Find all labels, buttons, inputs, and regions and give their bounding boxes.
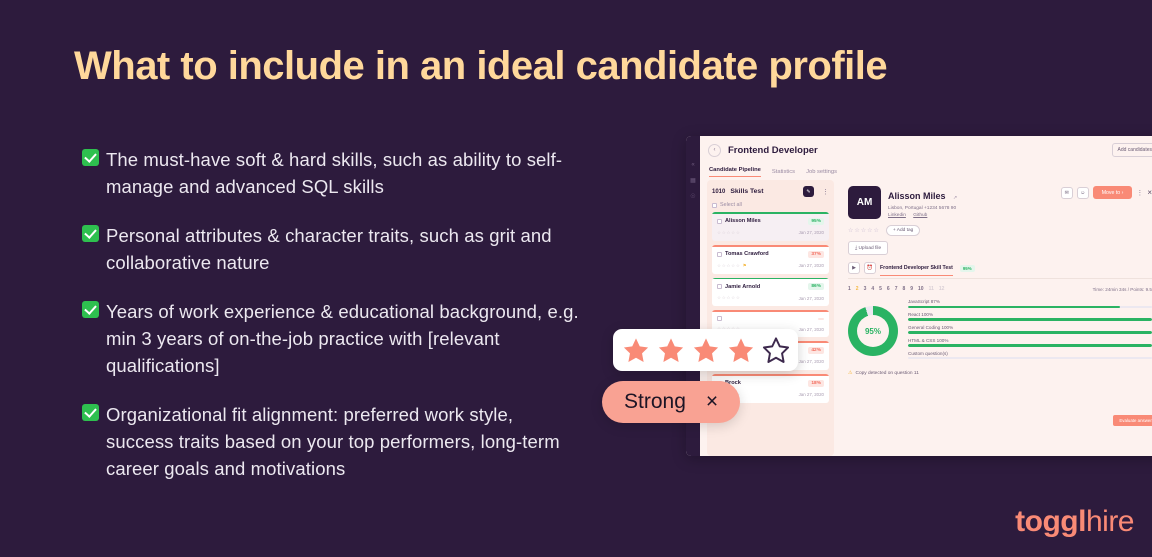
external-link-icon[interactable]: ↗ [953, 195, 957, 201]
question-4[interactable]: 4 [871, 286, 874, 292]
score-value: 95% [865, 327, 881, 336]
star-icon[interactable] [726, 336, 756, 365]
star-rating-icon[interactable]: ☆☆☆☆☆ [717, 295, 741, 301]
list-item-label: Years of work experience & educational b… [106, 298, 582, 379]
check-mark-button-icon [82, 404, 99, 421]
skill-label: HTML & CSS 100% [908, 338, 1152, 343]
question-8[interactable]: 8 [902, 286, 905, 292]
move-to-button[interactable]: Move to › [1093, 186, 1133, 199]
close-icon[interactable]: × [1147, 188, 1152, 197]
score-donut-chart: 95% [848, 306, 898, 356]
checkbox-icon[interactable] [717, 219, 722, 224]
page-title: What to include in an ideal candidate pr… [74, 44, 887, 89]
test-tab-row: ▶ ⏰ Frontend Developer Skill Test 95% [848, 262, 1152, 279]
candidate-row-top [712, 312, 829, 323]
logo-bold: toggl [1015, 505, 1086, 538]
add-tag-button[interactable]: + Add tag [886, 225, 920, 236]
chevrons-left-icon[interactable]: « [690, 162, 697, 169]
candidate-date: Jan 27, 2020 [799, 230, 824, 235]
candidate-row-bottom: ☆☆☆☆☆ ⚑ Jan 27, 2020 [712, 260, 829, 274]
candidate-date: Jan 27, 2020 [799, 359, 824, 364]
select-all-checkbox[interactable]: Select all [712, 202, 829, 208]
check-mark-button-icon [82, 301, 99, 318]
candidate-meta: Lisbon, Portugal +1234 5678 90 [888, 206, 957, 211]
question-11[interactable]: 11 [929, 286, 934, 292]
list-item-label: Organizational fit alignment: preferred … [106, 401, 582, 482]
list-item: Years of work experience & educational b… [82, 298, 582, 379]
app-tabs: Candidate Pipeline Statistics Job settin… [700, 164, 1152, 180]
kebab-icon[interactable]: ⋮ [822, 188, 829, 196]
bullet-list: The must-have soft & hard skills, such a… [82, 146, 582, 504]
link-linkedin[interactable]: Linkedin [888, 213, 906, 218]
back-arrow-icon[interactable]: ‹ [708, 144, 721, 157]
add-candidates-button[interactable]: Add candidates [1112, 143, 1152, 157]
checkbox-icon[interactable] [717, 252, 722, 257]
star-icon[interactable] [621, 336, 651, 365]
copy-detected-label: Copy detected on question 11 [855, 371, 918, 376]
avatar: AM [848, 186, 881, 219]
candidate-name: Alisson Miles [888, 191, 946, 201]
tab-candidate-pipeline[interactable]: Candidate Pipeline [709, 167, 761, 177]
question-3[interactable]: 3 [864, 286, 867, 292]
skill-row: JavaScript 87% [908, 299, 1152, 308]
skill-track [908, 318, 1152, 320]
app-screenshot: « ▦ ☉ ‹ Frontend Developer Add candidate… [686, 136, 1152, 456]
candidate-name: Jamie Arnold [725, 284, 760, 290]
select-all-label: Select all [720, 202, 742, 208]
play-icon[interactable]: ▶ [848, 262, 860, 274]
clock-icon[interactable]: ⏰ [864, 262, 876, 274]
candidate-date: Jan 27, 2020 [799, 296, 824, 301]
app-body: ‹ Frontend Developer Add candidates Cand… [700, 136, 1152, 456]
candidate-date: Jan 27, 2020 [799, 263, 824, 268]
pipeline-count: 1010 [712, 189, 725, 195]
kebab-icon[interactable]: ⋮ [1136, 189, 1143, 197]
candidate-score: 37% [808, 251, 824, 258]
check-mark-button-icon [82, 149, 99, 166]
table-row[interactable]: Jamie Arnold 86% ☆☆☆☆☆ Jan 27, 2020 [712, 278, 829, 307]
question-2[interactable]: 2 [856, 286, 859, 292]
list-item: The must-have soft & hard skills, such a… [82, 146, 582, 200]
skill-label: General Coding 100% [908, 325, 1152, 330]
candidate-name: Alisson Miles [725, 218, 761, 224]
skill-breakdown: JavaScript 87% React 100% General Coding… [908, 299, 1152, 363]
copy-detected-note: ⚠ Copy detected on question 11 [848, 370, 1152, 376]
skill-row: Custom question(s) [908, 351, 1152, 360]
logo-light: hire [1086, 505, 1134, 538]
candidate-date: Jan 27, 2020 [799, 392, 824, 397]
status-badge[interactable]: Strong × [602, 381, 740, 423]
score-summary: 95% JavaScript 87% React 100% General Co… [848, 299, 1152, 363]
skill-row: HTML & CSS 100% [908, 338, 1152, 347]
question-6[interactable]: 6 [887, 286, 890, 292]
candidate-row-top: Alisson Miles 95% [712, 214, 829, 227]
question-navigator: 1 2 3 4 5 6 7 8 9 10 11 12 Time: 24min 3… [848, 286, 1152, 292]
question-5[interactable]: 5 [879, 286, 882, 292]
thumbs-down-icon[interactable]: ☺ [1077, 187, 1089, 199]
pencil-icon[interactable]: ✎ [803, 186, 814, 197]
star-rating-icon[interactable]: ☆☆☆☆☆ [848, 227, 880, 234]
close-icon[interactable]: × [706, 390, 718, 414]
star-icon[interactable] [691, 336, 721, 365]
candidate-row-top: Tomas Crawford 37% [712, 247, 829, 260]
toggl-hire-logo: togglhire [1015, 505, 1134, 539]
list-item: Organizational fit alignment: preferred … [82, 401, 582, 482]
candidate-identity: Alisson Miles ↗ Lisbon, Portugal +1234 5… [888, 186, 957, 218]
checkbox-icon[interactable] [717, 284, 722, 289]
skill-track [908, 357, 1152, 359]
skill-track [908, 306, 1152, 308]
question-9[interactable]: 9 [910, 286, 913, 292]
checkbox-icon[interactable] [712, 203, 717, 208]
candidate-row-bottom: ☆☆☆☆☆ Jan 27, 2020 [712, 227, 829, 241]
candidate-score [818, 318, 824, 320]
tab-job-settings[interactable]: Job settings [806, 169, 837, 175]
candidate-score: 42% [808, 347, 824, 354]
question-10[interactable]: 10 [918, 286, 924, 292]
status-badge-label: Strong [624, 390, 686, 414]
skill-fill [908, 318, 1152, 320]
candidate-detail-panel: AM Alisson Miles ↗ Lisbon, Portugal +123… [841, 180, 1152, 456]
candidate-name: Tomas Crawford [725, 251, 769, 257]
list-item: Personal attributes & character traits, … [82, 222, 582, 276]
pipeline-header: 1010 Skills Test ✎ ⋮ [712, 186, 829, 197]
job-title: Frontend Developer [728, 145, 818, 156]
checkbox-icon[interactable] [717, 316, 722, 321]
skill-fill [908, 331, 1152, 333]
star-rating-overlay[interactable] [613, 329, 798, 371]
candidate-score: 86% [808, 283, 824, 290]
question-7[interactable]: 7 [895, 286, 898, 292]
pipeline-title: Skills Test [730, 188, 763, 195]
star-rating-icon[interactable]: ☆☆☆☆☆ [717, 263, 741, 269]
app-main: 1010 Skills Test ✎ ⋮ Select all Alisson … [700, 180, 1152, 456]
skill-label: JavaScript 87% [908, 299, 1152, 304]
candidate-score: 95% [808, 218, 824, 225]
test-score-badge: 95% [960, 265, 975, 272]
evaluate-answers-button[interactable]: Evaluate answers [1113, 415, 1152, 426]
rating-and-tags: ☆☆☆☆☆ + Add tag [848, 225, 1152, 236]
time-and-points: Time: 24min 34s / Points: 9.5 [1093, 287, 1152, 292]
warning-triangle-icon: ⚠ [848, 370, 852, 376]
star-icon[interactable] [761, 336, 791, 365]
mail-icon[interactable]: ✉ [1061, 187, 1073, 199]
star-rating-icon[interactable]: ☆☆☆☆☆ [717, 230, 741, 236]
skill-track [908, 344, 1152, 346]
check-mark-button-icon [82, 225, 99, 242]
skill-label: React 100% [908, 312, 1152, 317]
table-row[interactable]: Alisson Miles 95% ☆☆☆☆☆ Jan 27, 2020 [712, 212, 829, 241]
detail-actions: ✉ ☺ Move to › ⋮ × [1061, 186, 1152, 199]
help-circle-icon[interactable]: ☉ [690, 194, 697, 201]
list-item-label: The must-have soft & hard skills, such a… [106, 146, 582, 200]
table-row[interactable]: Tomas Crawford 37% ☆☆☆☆☆ ⚑ Jan 27, 2020 [712, 245, 829, 274]
skill-track [908, 331, 1152, 333]
star-icon[interactable] [656, 336, 686, 365]
test-name[interactable]: Frontend Developer Skill Test [880, 265, 953, 276]
candidate-name-row: Alisson Miles ↗ [888, 186, 957, 204]
skill-fill [908, 344, 1152, 346]
candidate-detail-header: AM Alisson Miles ↗ Lisbon, Portugal +123… [848, 186, 1152, 219]
candidate-row-bottom: ☆☆☆☆☆ Jan 27, 2020 [712, 292, 829, 306]
skill-row: React 100% [908, 312, 1152, 321]
candidate-score: 18% [808, 380, 824, 387]
skill-label: Custom question(s) [908, 351, 1152, 356]
skill-row: General Coding 100% [908, 325, 1152, 334]
candidate-date: Jan 27, 2020 [799, 327, 824, 332]
link-github[interactable]: Github [913, 213, 927, 218]
app-topbar: ‹ Frontend Developer Add candidates [700, 136, 1152, 164]
tab-statistics[interactable]: Statistics [772, 169, 795, 175]
candidate-links: Linkedin Github [888, 213, 957, 218]
skill-fill [908, 306, 1120, 308]
list-item-label: Personal attributes & character traits, … [106, 222, 582, 276]
question-12[interactable]: 12 [939, 286, 945, 292]
upload-file-button[interactable]: ⤓ Upload file [848, 241, 888, 255]
question-1[interactable]: 1 [848, 286, 851, 292]
grid-icon[interactable]: ▦ [690, 178, 697, 185]
flag-icon: ⚑ [743, 263, 747, 269]
candidate-row-top: Jamie Arnold 86% [712, 279, 829, 292]
